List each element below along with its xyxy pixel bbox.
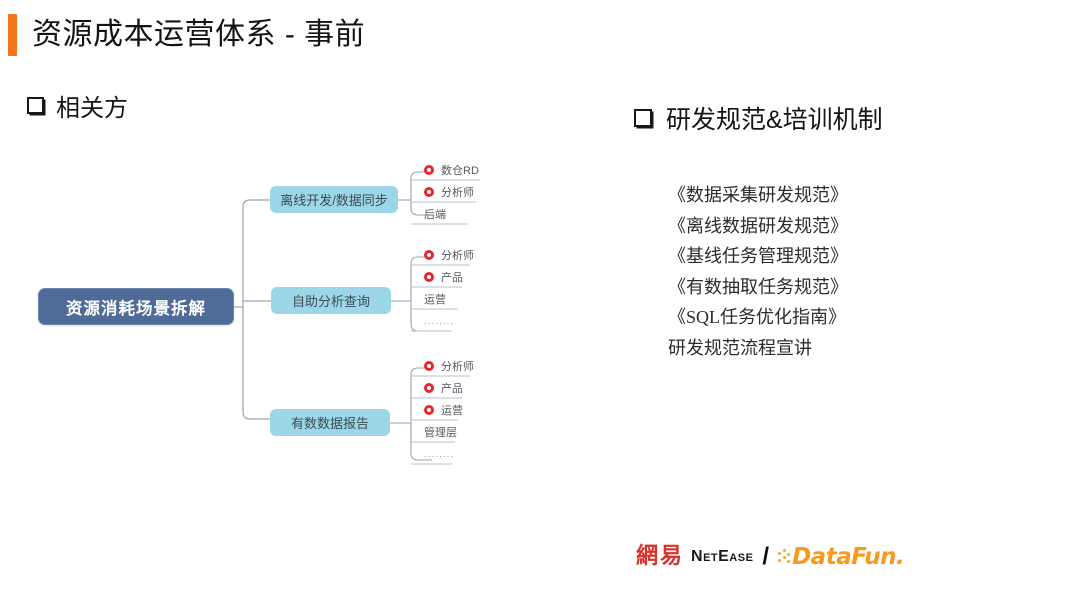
netease-logo-cn: 網易: [636, 546, 684, 568]
mindmap-leaf-label: 运营: [441, 402, 463, 418]
footer-logos: 網易 NetEase / DataFun.: [636, 545, 904, 569]
mindmap-branch-node-3[interactable]: 有数数据报告: [270, 409, 390, 436]
red-dot-icon: [424, 383, 434, 393]
mindmap-leaf[interactable]: 后端: [418, 204, 446, 224]
list-item: 研发规范流程宣讲: [668, 333, 848, 364]
mindmap-branch-node-2[interactable]: 自助分析查询: [271, 287, 391, 314]
datafun-logo: DataFun.: [792, 546, 904, 569]
list-item: 《有数抽取任务规范》: [668, 272, 848, 303]
mindmap-leaf-label: ........: [424, 316, 454, 327]
mindmap-leaf[interactable]: 产品: [418, 378, 463, 398]
red-dot-icon: [424, 272, 434, 282]
red-dot-icon: [424, 250, 434, 260]
section-heading-right: 研发规范&培训机制: [634, 100, 883, 136]
mindmap-leaf[interactable]: 数仓RD: [418, 160, 479, 180]
mindmap-branch-label-3: 有数数据报告: [291, 413, 369, 432]
mindmap-leaf[interactable]: 运营: [418, 400, 463, 420]
list-item: 《离线数据研发规范》: [668, 211, 848, 242]
mindmap-leaf-label: ........: [424, 449, 454, 460]
mindmap-leaf-label: 分析师: [441, 358, 474, 374]
mindmap-leaf-label: 管理层: [424, 424, 457, 440]
mindmap-leaf[interactable]: 产品: [418, 267, 463, 287]
mindmap-leaf-label: 运营: [424, 291, 446, 307]
red-dot-icon: [424, 361, 434, 371]
mindmap-leaf[interactable]: ........: [418, 444, 454, 464]
red-dot-icon: [424, 165, 434, 175]
mindmap-branch-label-1: 离线开发/数据同步: [280, 190, 388, 209]
mindmap-leaf[interactable]: 分析师: [418, 182, 474, 202]
bullet-square-icon: [634, 109, 652, 127]
datafun-dots-icon: [778, 549, 791, 565]
logo-separator: /: [762, 545, 769, 569]
mindmap-leaf[interactable]: 分析师: [418, 356, 474, 376]
mindmap-leaf-label: 后端: [424, 206, 446, 222]
list-item: 《SQL任务优化指南》: [668, 302, 848, 333]
mindmap-leaf[interactable]: 运营: [418, 289, 446, 309]
mindmap-leaf-label: 产品: [441, 380, 463, 396]
mindmap-leaf-label: 分析师: [441, 184, 474, 200]
mindmap-leaf-label: 分析师: [441, 247, 474, 263]
mindmap: 资源消耗场景拆解 离线开发/数据同步 自助分析查询 有数数据报告 数仓RD 分析…: [0, 0, 560, 500]
section-heading-right-label: 研发规范&培训机制: [666, 100, 883, 136]
mindmap-root-label: 资源消耗场景拆解: [66, 295, 206, 319]
list-item: 《数据采集研发规范》: [668, 180, 848, 211]
red-dot-icon: [424, 405, 434, 415]
mindmap-branch-label-2: 自助分析查询: [292, 291, 370, 310]
mindmap-leaf-label: 产品: [441, 269, 463, 285]
mindmap-leaf[interactable]: 分析师: [418, 245, 474, 265]
standards-list: 《数据采集研发规范》 《离线数据研发规范》 《基线任务管理规范》 《有数抽取任务…: [668, 180, 848, 363]
netease-logo-en: NetEase: [691, 549, 753, 565]
slide-canvas: 资源成本运营体系 - 事前 相关方 研发规范&培训机制: [0, 0, 1080, 608]
red-dot-icon: [424, 187, 434, 197]
mindmap-leaf[interactable]: 管理层: [418, 422, 457, 442]
mindmap-branch-node-1[interactable]: 离线开发/数据同步: [270, 186, 398, 213]
mindmap-root-node[interactable]: 资源消耗场景拆解: [38, 288, 234, 325]
list-item: 《基线任务管理规范》: [668, 241, 848, 272]
mindmap-leaf[interactable]: ........: [418, 311, 454, 331]
mindmap-leaf-label: 数仓RD: [441, 162, 479, 178]
